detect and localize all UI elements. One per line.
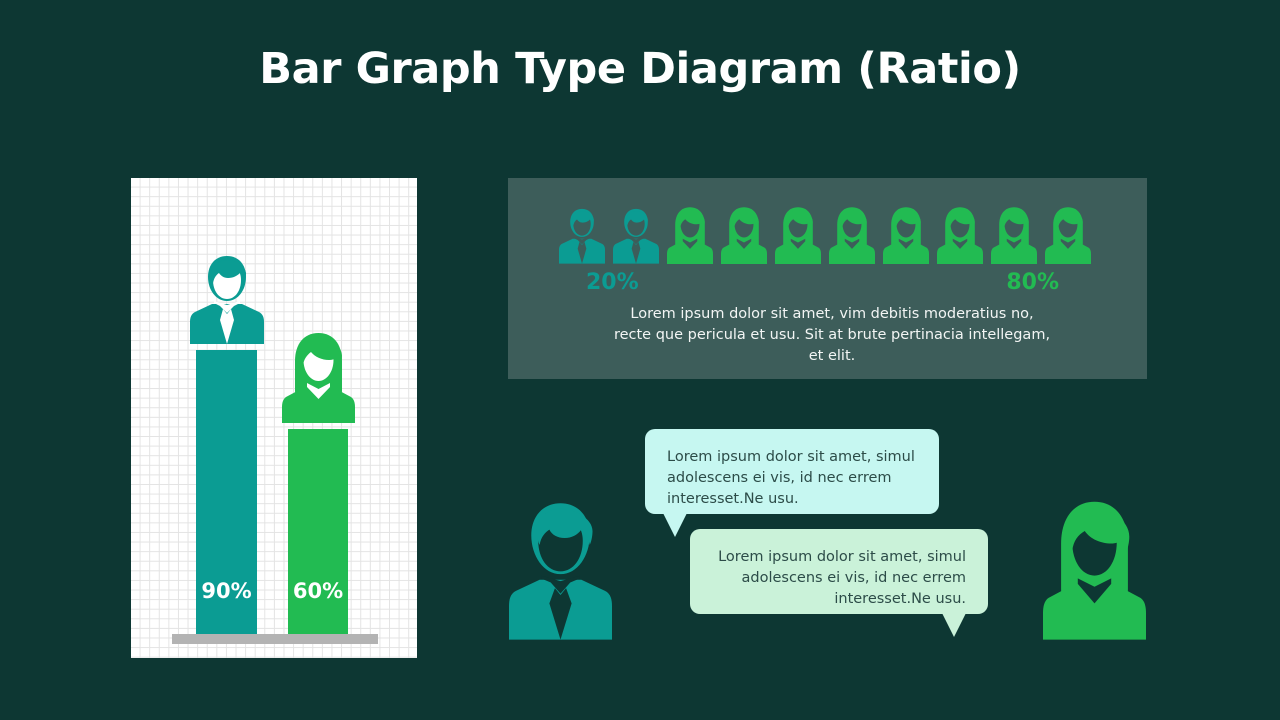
speech-bubble-female: Lorem ipsum dolor sit amet, simul adoles… — [690, 529, 988, 614]
ratio-right-percent: 80% — [1006, 270, 1059, 295]
ratio-body-text: Lorem ipsum dolor sit amet, vim debitis … — [612, 304, 1052, 367]
speech-bubble-male-text: Lorem ipsum dolor sit amet, simul adoles… — [667, 449, 915, 507]
ratio-female-icon — [883, 206, 929, 264]
ratio-female-icon — [829, 206, 875, 264]
ratio-female-icon — [775, 206, 821, 264]
ratio-female-icon — [991, 206, 1037, 264]
male-avatar — [509, 500, 612, 640]
bar-base-line — [172, 634, 378, 644]
ratio-female-icon — [937, 206, 983, 264]
speech-bubble-male-tail — [663, 513, 687, 537]
ratio-female-icon — [1045, 206, 1091, 264]
female-avatar — [1043, 500, 1146, 640]
ratio-male-icon — [559, 206, 605, 264]
speech-bubble-female-tail — [942, 613, 966, 637]
ratio-female-icon — [667, 206, 713, 264]
bar-male: 90% — [196, 350, 257, 634]
speech-bubble-female-text: Lorem ipsum dolor sit amet, simul adoles… — [718, 549, 966, 607]
bar-female-value: 60% — [288, 579, 348, 603]
page-title: Bar Graph Type Diagram (Ratio) — [0, 44, 1280, 94]
ratio-left-percent: 20% — [586, 270, 639, 295]
bar-male-value: 90% — [196, 579, 257, 603]
speech-bubble-male: Lorem ipsum dolor sit amet, simul adoles… — [645, 429, 939, 514]
slide-canvas: Bar Graph Type Diagram (Ratio) — [0, 0, 1280, 720]
ratio-male-icon — [613, 206, 659, 264]
bar-chart-card: 90% 60% — [131, 178, 417, 658]
ratio-icon-row — [559, 206, 1099, 264]
male-figure-icon — [190, 252, 264, 348]
ratio-panel: 20% 80% Lorem ipsum dolor sit amet, vim … — [508, 178, 1147, 379]
female-figure-icon — [282, 331, 355, 427]
ratio-female-icon — [721, 206, 767, 264]
bar-female: 60% — [288, 429, 348, 634]
